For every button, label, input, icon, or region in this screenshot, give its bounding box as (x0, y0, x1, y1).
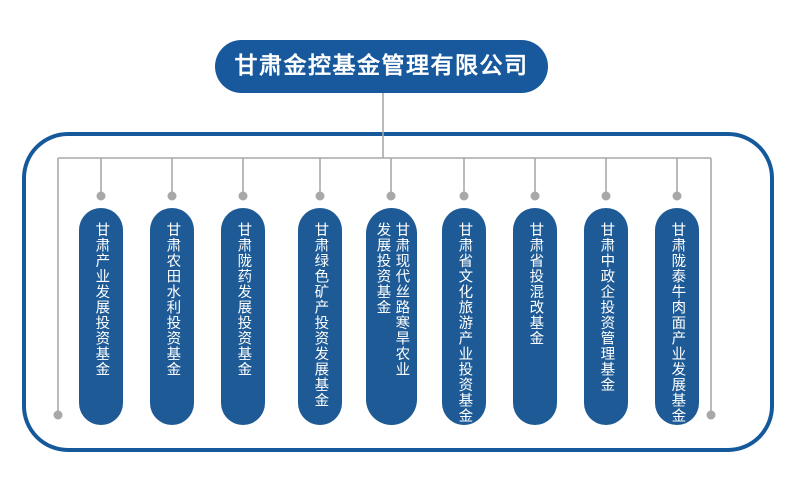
node-label-column: 甘肃省文化旅游产业投资基金 (455, 222, 474, 424)
node-capsule[interactable]: 甘肃绿色矿产投资发展基金 (298, 208, 342, 425)
node-capsule[interactable]: 甘肃陇药发展投资基金 (221, 208, 265, 425)
node-capsule[interactable]: 甘肃产业发展投资基金 (79, 208, 123, 425)
node-capsule[interactable]: 甘肃农田水利投资基金 (150, 208, 194, 425)
node-capsule[interactable]: 甘肃陇泰牛肉面产业发展基金 (655, 208, 699, 425)
root-node-label: 甘肃金控基金管理有限公司 (235, 55, 529, 78)
node-label-column: 甘肃省投混改基金 (526, 222, 545, 346)
org-chart: 甘肃金控基金管理有限公司 甘肃产业发展投资基金 甘肃农田水利投资基金 甘肃陇药发… (0, 0, 800, 477)
node-label-column: 甘肃陇药发展投资基金 (234, 222, 253, 377)
root-node[interactable]: 甘肃金控基金管理有限公司 (215, 40, 548, 93)
node-capsule[interactable]: 甘肃现代丝路寒旱农业 发展投资基金 (366, 208, 417, 425)
node-label-column: 甘肃中政企投资管理基金 (597, 222, 616, 393)
node-label-column: 甘肃现代丝路寒旱农业 (392, 222, 411, 377)
node-capsule[interactable]: 甘肃省文化旅游产业投资基金 (442, 208, 486, 425)
node-label-column: 甘肃农田水利投资基金 (163, 222, 182, 377)
node-label-column: 甘肃绿色矿产投资发展基金 (311, 222, 330, 408)
node-capsule[interactable]: 甘肃中政企投资管理基金 (584, 208, 628, 425)
node-label-column: 甘肃陇泰牛肉面产业发展基金 (668, 222, 687, 424)
node-label-column: 发展投资基金 (373, 222, 392, 315)
node-label-column: 甘肃产业发展投资基金 (92, 222, 111, 377)
node-capsule[interactable]: 甘肃省投混改基金 (513, 208, 557, 425)
